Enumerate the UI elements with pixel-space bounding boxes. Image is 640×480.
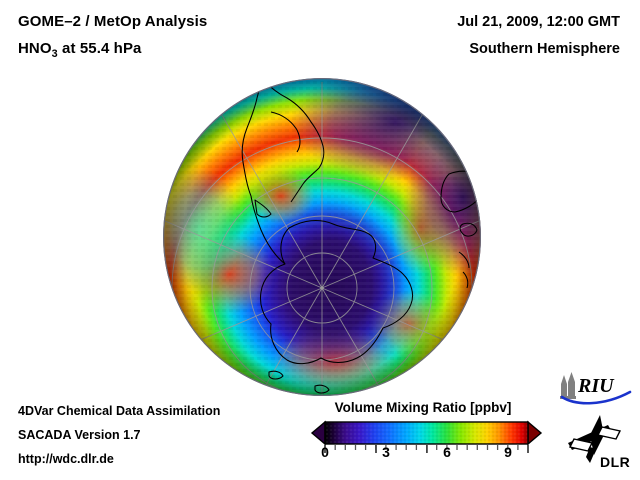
colorbar-low-arrow-cap bbox=[312, 422, 325, 444]
colorbar-ticks bbox=[325, 445, 528, 453]
species-level-label: HNO3 at 55.4 hPa bbox=[18, 40, 142, 60]
colorbar: Volume Mixing Ratio [ppbv] bbox=[306, 400, 546, 472]
colorbar-tick-label-0: 0 bbox=[321, 444, 329, 460]
polar-map-canvas bbox=[163, 78, 481, 396]
dlr-logo-mark: DLR bbox=[564, 413, 630, 471]
colorbar-tick-label-3: 9 bbox=[504, 444, 512, 460]
limb-shading bbox=[163, 78, 481, 396]
species-name: HNO bbox=[18, 40, 52, 57]
colorbar-tick-label-2: 6 bbox=[443, 444, 451, 460]
colorbar-dither-texture bbox=[325, 422, 528, 444]
dlr-logo: DLR bbox=[564, 413, 630, 471]
hemisphere-label: Southern Hemisphere bbox=[469, 41, 620, 57]
pressure-level: at 55.4 hPa bbox=[58, 40, 142, 57]
visualization-page: GOME–2 / MetOp Analysis HNO3 at 55.4 hPa… bbox=[0, 0, 640, 480]
colorbar-title: Volume Mixing Ratio [ppbv] bbox=[306, 400, 540, 415]
polar-map bbox=[163, 78, 481, 396]
timestamp-label: Jul 21, 2009, 12:00 GMT bbox=[457, 14, 620, 30]
colorbar-tick-label-1: 3 bbox=[382, 444, 390, 460]
map-field bbox=[163, 78, 481, 396]
method-label: 4DVar Chemical Data Assimilation bbox=[18, 404, 220, 418]
version-label: SACADA Version 1.7 bbox=[18, 428, 141, 442]
riu-wordmark: RIU bbox=[577, 375, 615, 397]
page-title: GOME–2 / MetOp Analysis bbox=[18, 13, 207, 30]
colorbar-high-arrow-cap bbox=[528, 422, 541, 444]
riu-logo: RIU bbox=[556, 370, 634, 406]
dlr-wordmark: DLR bbox=[600, 454, 630, 470]
source-url-label[interactable]: http://wdc.dlr.de bbox=[18, 452, 114, 466]
riu-logo-mark: RIU bbox=[556, 370, 634, 406]
cathedral-towers-icon bbox=[560, 372, 576, 399]
